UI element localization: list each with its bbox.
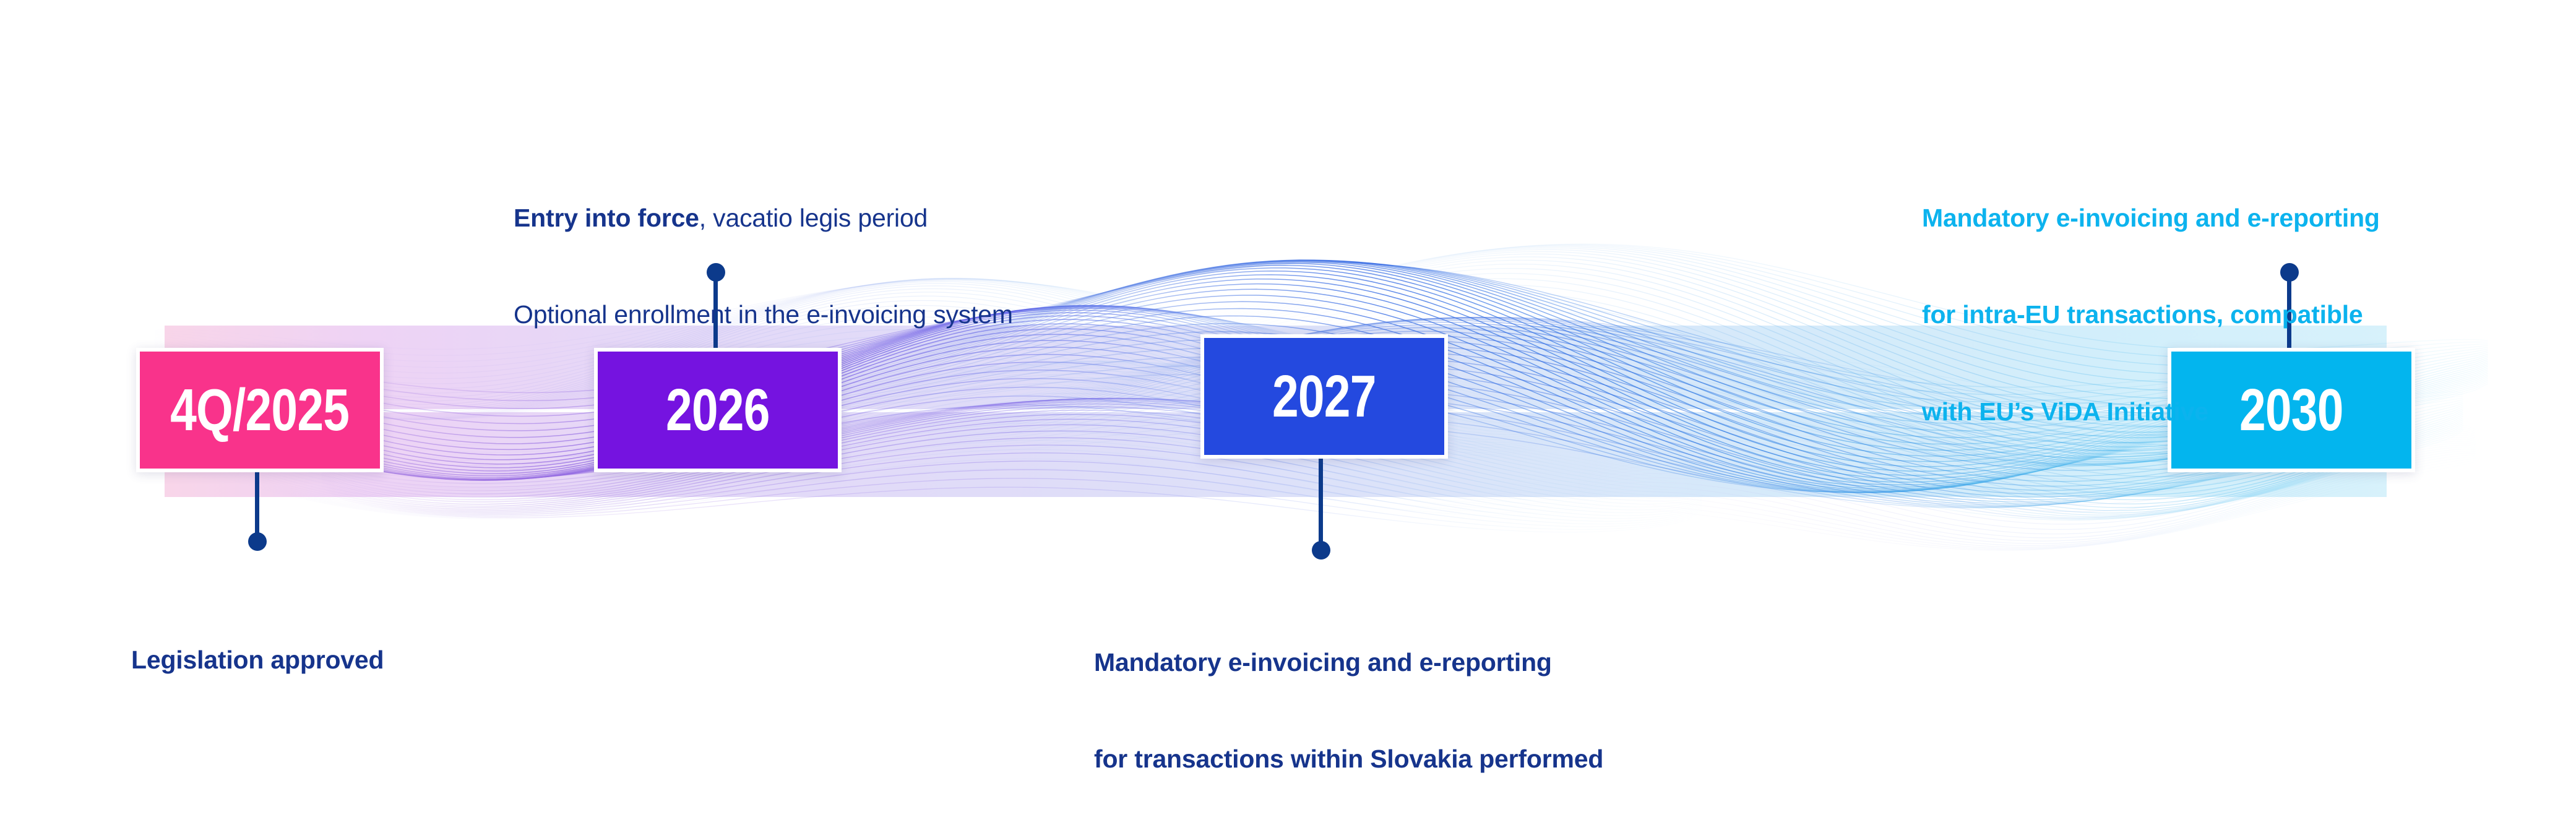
caption-line: Entry into force, vacatio legis period: [514, 202, 1013, 234]
caption-line: Optional enrollment in the e-invoicing s…: [514, 298, 1013, 331]
caption-text-regular: Optional enrollment in the e-invoicing s…: [514, 300, 1013, 329]
caption-2026: Entry into force, vacatio legis period O…: [514, 137, 1013, 396]
caption-2030: Mandatory e-invoicing and e-reporting fo…: [1922, 137, 2380, 492]
milestone-box-fill: 2027: [1204, 338, 1444, 455]
connector-dot: [1312, 541, 1330, 560]
caption-line: Mandatory e-invoicing and e-reporting: [1922, 202, 2380, 234]
caption-text-bold: Entry into force: [514, 204, 699, 232]
milestone-box-2025[interactable]: 4Q/2025: [136, 348, 384, 472]
connector-line: [1319, 459, 1323, 550]
connector-line: [255, 472, 259, 542]
milestone-year-label: 2027: [1272, 367, 1376, 426]
caption-line: for intra-EU transactions, compatible: [1922, 298, 2380, 331]
caption-text: Legislation approved: [131, 646, 384, 674]
caption-line: for transactions within Slovakia perform…: [1094, 743, 1603, 775]
milestone-box-fill: 4Q/2025: [140, 352, 380, 469]
caption-line: with EU’s ViDA Initiative: [1922, 396, 2380, 428]
timeline-infographic: 4Q/2025 2026 2027 2030 Legislation appro…: [0, 0, 2576, 830]
caption-text-regular: , vacatio legis period: [699, 204, 928, 232]
caption-line: Mandatory e-invoicing and e-reporting: [1094, 646, 1603, 678]
connector-dot: [248, 532, 267, 551]
caption-2027: Mandatory e-invoicing and e-reporting fo…: [1094, 582, 1603, 830]
caption-line: Legislation approved: [131, 644, 384, 676]
caption-2025: Legislation approved: [131, 579, 384, 740]
milestone-box-2027[interactable]: 2027: [1200, 334, 1448, 459]
milestone-year-label: 4Q/2025: [170, 381, 349, 440]
